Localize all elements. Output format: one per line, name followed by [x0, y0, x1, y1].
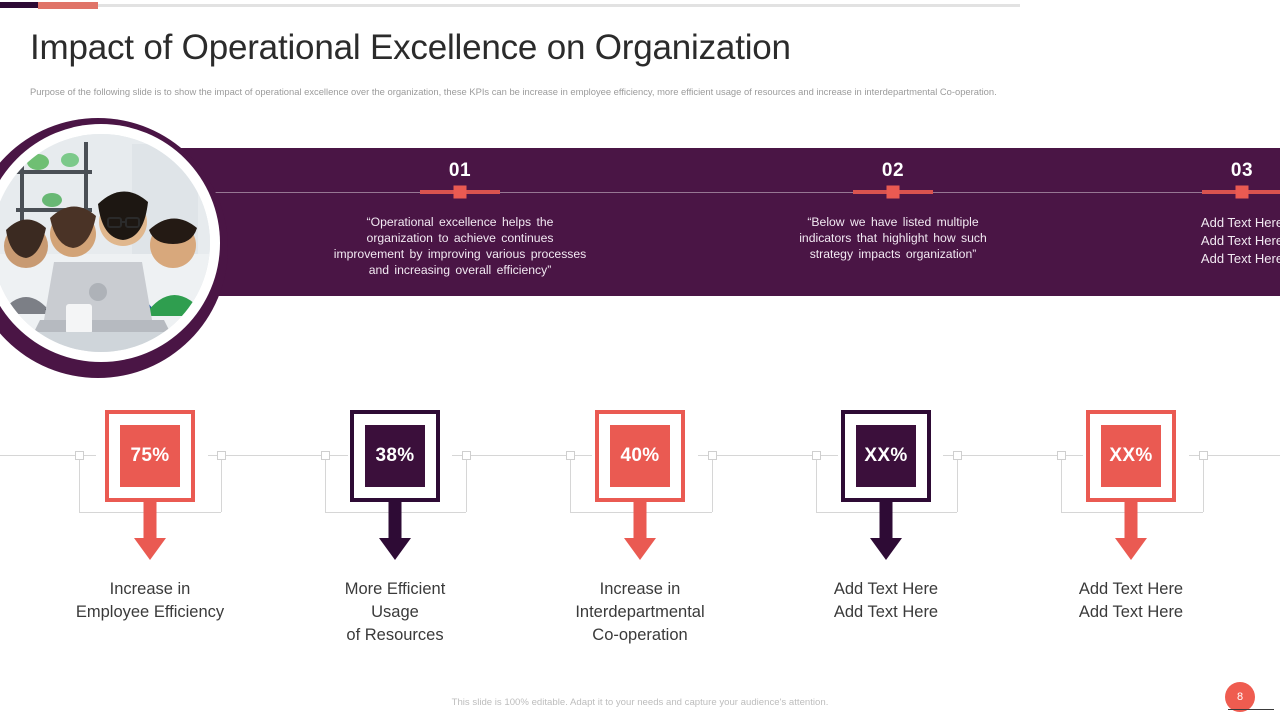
banner-text-line: Add Text Here — [1002, 214, 1280, 232]
kpi-label-line: Employee Efficiency — [50, 601, 250, 624]
kpi-item-2[interactable]: 38% More Efficient Usage of Resources — [295, 410, 495, 562]
banner-number-01: 01 — [220, 160, 700, 182]
kpi-arrow-1 — [50, 502, 250, 562]
kpi-box-5: XX% — [1086, 410, 1176, 502]
kpi-label-3: Increase in Interdepartmental Co-operati… — [540, 578, 740, 647]
kpi-fill-2: 38% — [365, 425, 425, 487]
banner-text-line: organization to achieve continues — [220, 230, 700, 246]
kpi-box-2: 38% — [350, 410, 440, 502]
kpi-label-line: Add Text Here — [786, 578, 986, 601]
top-bar-gray-rule — [98, 4, 1020, 7]
banner-number-03: 03 — [1002, 160, 1280, 182]
kpi-value-1: 75% — [131, 445, 170, 467]
kpi-label-4: Add Text Here Add Text Here — [786, 578, 986, 624]
kpi-label-line: Add Text Here — [1031, 601, 1231, 624]
kpi-box-1: 75% — [105, 410, 195, 502]
kpi-item-3[interactable]: 40% Increase in Interdepartmental Co-ope… — [540, 410, 740, 562]
kpi-label-line: of Resources — [295, 624, 495, 647]
slide-canvas: Impact of Operational Excellence on Orga… — [0, 0, 1280, 720]
kpi-fill-4: XX% — [856, 425, 916, 487]
kpi-label-line: Increase in — [540, 578, 740, 601]
banner-text-line: Add Text Here — [1002, 232, 1280, 250]
kpi-label-line: More Efficient — [295, 578, 495, 601]
kpi-label-line: Increase in — [50, 578, 250, 601]
kpi-label-line: Add Text Here — [1031, 578, 1231, 601]
kpi-fill-5: XX% — [1101, 425, 1161, 487]
kpi-value-4: XX% — [864, 445, 907, 467]
page-number-badge: 8 — [1225, 682, 1255, 712]
banner-text-01: “Operational excellence helps the organi… — [220, 214, 700, 278]
team-photo-illustration-icon — [0, 134, 210, 352]
banner-column-01: 01 “Operational excellence helps the org… — [220, 148, 700, 296]
kpi-label-2: More Efficient Usage of Resources — [295, 578, 495, 647]
kpi-arrow-5 — [1031, 502, 1231, 562]
kpi-item-4[interactable]: XX% Add Text Here Add Text Here — [786, 410, 986, 562]
banner-text-line: Add Text Here — [1002, 250, 1280, 268]
page-number-underline — [1228, 709, 1274, 710]
banner-marker-square-01 — [454, 186, 467, 199]
kpi-label-line: Usage — [295, 601, 495, 624]
banner-text-03: Add Text Here Add Text Here Add Text Her… — [1002, 214, 1280, 268]
banner-marker-square-02 — [887, 186, 900, 199]
kpi-label-line: Co-operation — [540, 624, 740, 647]
kpi-value-5: XX% — [1109, 445, 1152, 467]
kpi-label-line: Interdepartmental — [540, 601, 740, 624]
footer-note: This slide is 100% editable. Adapt it to… — [0, 697, 1280, 708]
team-photo — [0, 134, 210, 352]
kpi-label-1: Increase in Employee Efficiency — [50, 578, 250, 624]
banner-marker-square-03 — [1236, 186, 1249, 199]
banner-column-03: 03 Add Text Here Add Text Here Add Text … — [1002, 148, 1280, 296]
kpi-arrow-3 — [540, 502, 740, 562]
banner-text-line: “Operational excellence helps the — [220, 214, 700, 230]
banner-text-line: and increasing overall efficiency” — [220, 262, 700, 278]
top-decoration-bars — [0, 2, 1020, 8]
kpi-value-3: 40% — [621, 445, 660, 467]
kpi-box-4: XX% — [841, 410, 931, 502]
page-subtitle: Purpose of the following slide is to sho… — [30, 85, 1110, 98]
top-bar-coral — [38, 2, 98, 9]
banner-text-line: improvement by improving various process… — [220, 246, 700, 262]
kpi-item-1[interactable]: 75% Increase in Employee Efficiency — [50, 410, 250, 562]
kpi-item-5[interactable]: XX% Add Text Here Add Text Here — [1031, 410, 1231, 562]
kpi-box-3: 40% — [595, 410, 685, 502]
statements-banner: 01 “Operational excellence helps the org… — [160, 148, 1280, 296]
kpi-fill-3: 40% — [610, 425, 670, 487]
kpi-arrow-4 — [786, 502, 986, 562]
kpi-fill-1: 75% — [120, 425, 180, 487]
kpi-label-5: Add Text Here Add Text Here — [1031, 578, 1231, 624]
kpi-value-2: 38% — [376, 445, 415, 467]
kpi-arrow-2 — [295, 502, 495, 562]
page-title: Impact of Operational Excellence on Orga… — [30, 28, 791, 68]
kpi-label-line: Add Text Here — [786, 601, 986, 624]
